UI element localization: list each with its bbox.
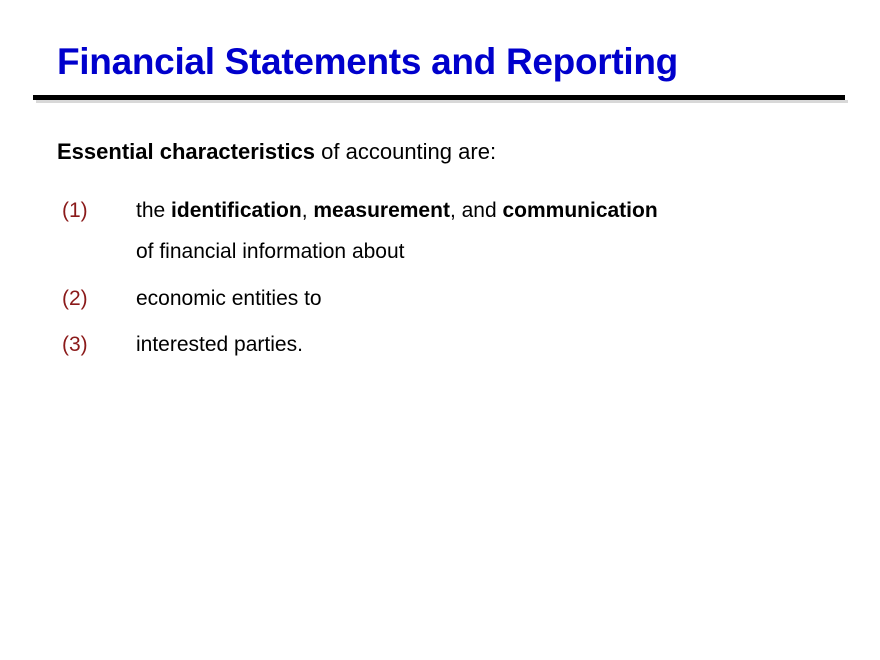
lead-emphasis: Essential characteristics bbox=[57, 139, 315, 164]
numbered-list: (1)the identification, measurement, and … bbox=[0, 196, 880, 377]
list-item-text: interested parties. bbox=[136, 330, 880, 360]
list-item: (3)interested parties. bbox=[0, 330, 880, 360]
list-item: (2)economic entities to bbox=[0, 284, 880, 314]
text-run: interested parties. bbox=[136, 333, 303, 356]
emphasis-term: measurement bbox=[313, 199, 450, 222]
text-run: of financial information about bbox=[136, 240, 405, 263]
lead-remainder: of accounting are: bbox=[315, 139, 496, 164]
list-item: (1)the identification, measurement, and … bbox=[0, 196, 880, 267]
text-run: , and bbox=[450, 199, 503, 222]
list-item-text: the identification, measurement, and com… bbox=[136, 196, 880, 267]
emphasis-term: communication bbox=[502, 199, 657, 222]
text-run: economic entities to bbox=[136, 287, 322, 310]
emphasis-term: identification bbox=[171, 199, 302, 222]
slide-title: Financial Statements and Reporting bbox=[57, 41, 678, 82]
presentation-slide: Financial Statements and Reporting Essen… bbox=[0, 0, 880, 660]
list-item-marker: (2) bbox=[62, 284, 122, 314]
text-run: , bbox=[302, 199, 314, 222]
list-item-line: the identification, measurement, and com… bbox=[136, 196, 850, 226]
text-run: the bbox=[136, 199, 171, 222]
list-item-text: economic entities to bbox=[136, 284, 880, 314]
list-item-marker: (3) bbox=[62, 330, 122, 360]
list-item-line: economic entities to bbox=[136, 284, 850, 314]
lead-statement: Essential characteristics of accounting … bbox=[57, 138, 496, 167]
list-item-line: of financial information about bbox=[136, 237, 850, 267]
list-item-line: interested parties. bbox=[136, 330, 850, 360]
title-divider-shadow bbox=[36, 100, 848, 103]
list-item-marker: (1) bbox=[62, 196, 122, 226]
